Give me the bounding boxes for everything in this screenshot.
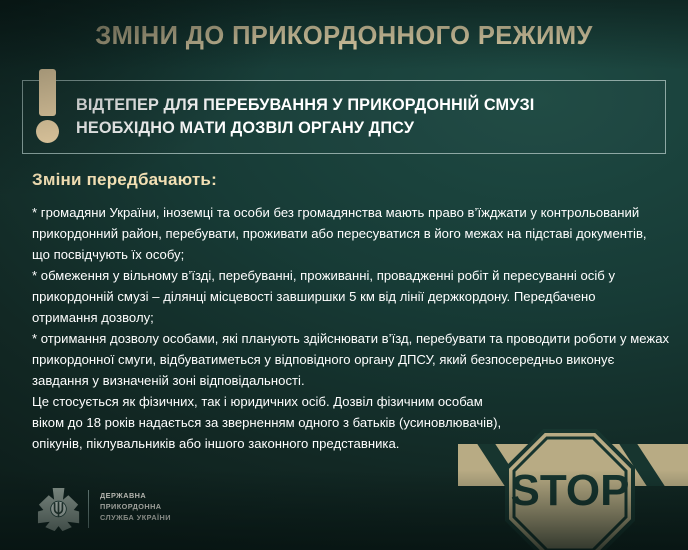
org-line-3: СЛУЖБА УКРАЇНИ [100, 512, 171, 523]
bullet-paragraph-3: * отримання дозволу особами, які плануют… [32, 329, 670, 391]
stop-sign-icon: STOP [507, 431, 633, 550]
page-title: ЗМІНИ ДО ПРИКОРДОННОГО РЕЖИМУ [0, 22, 688, 51]
section-subheading: Зміни передбачають: [32, 170, 217, 190]
infographic-poster: ЗМІНИ ДО ПРИКОРДОННОГО РЕЖИМУ ВІДТЕПЕР Д… [0, 0, 688, 550]
exclamation-mark-icon [39, 69, 56, 116]
org-line-1: ДЕРЖАВНА [100, 490, 171, 501]
barrier-arm-right [598, 442, 688, 488]
alert-line-2: НЕОБХІДНО МАТИ ДОЗВІЛ ОРГАНУ ДПСУ [76, 117, 666, 140]
exclamation-dot-icon [36, 120, 59, 143]
alert-banner-text: ВІДТЕПЕР ДЛЯ ПЕРЕБУВАННЯ У ПРИКОРДОННІЙ … [76, 80, 666, 154]
alert-line-1: ВІДТЕПЕР ДЛЯ ПЕРЕБУВАННЯ У ПРИКОРДОННІЙ … [76, 94, 666, 117]
footer-logo: ДЕРЖАВНА ПРИКОРДОННА СЛУЖБА УКРАЇНИ [36, 487, 276, 533]
bullet-paragraph-3-continued: Це стосується як фізичних, так і юридичн… [32, 392, 502, 454]
stop-sign-label: STOP [510, 466, 629, 515]
organization-name: ДЕРЖАВНА ПРИКОРДОННА СЛУЖБА УКРАЇНИ [100, 490, 171, 524]
bullet-paragraph-1: * громадяни України, іноземці та особи б… [32, 203, 662, 265]
bullet-paragraph-2: * обмеження у вільному в’їзді, перебуван… [32, 266, 662, 328]
border-guard-cross-emblem [36, 488, 82, 532]
logo-divider [88, 490, 89, 528]
org-line-2: ПРИКОРДОННА [100, 501, 171, 512]
